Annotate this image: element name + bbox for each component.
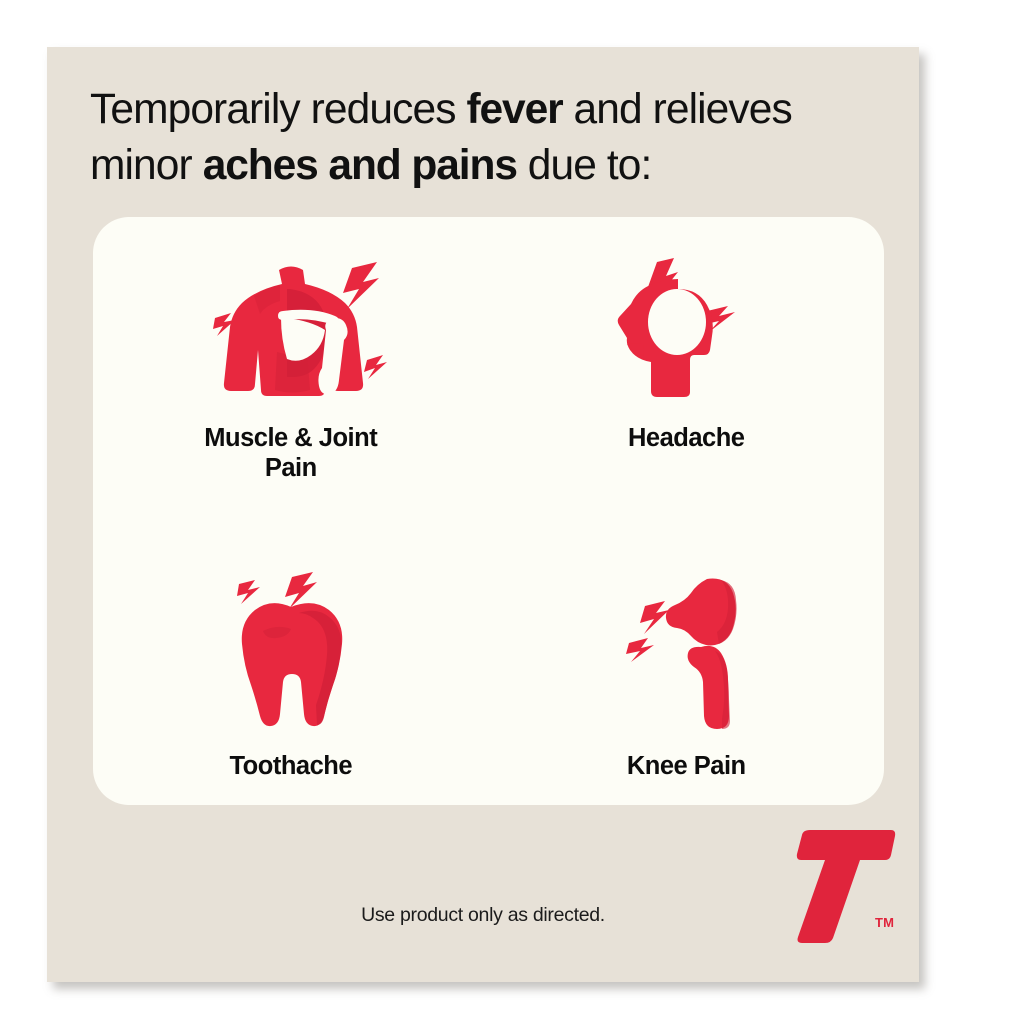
symptom-label: Knee Pain — [627, 751, 746, 781]
headline-text: minor — [90, 142, 203, 189]
symptom-label: Toothache — [229, 751, 352, 781]
knee-pain-icon — [609, 569, 764, 731]
headline-line-1: Temporarily reduces fever and relieves — [90, 86, 792, 133]
symptom-item-muscle-joint-pain: Muscle & JointPain — [93, 217, 489, 511]
muscle-joint-pain-icon — [191, 255, 391, 407]
symptom-grid: Muscle & JointPain — [93, 217, 884, 805]
symptom-item-toothache: Toothache — [93, 511, 489, 805]
symptom-label: Muscle & JointPain — [204, 423, 377, 483]
headline-line-2: minor aches and pains due to: — [90, 142, 651, 189]
headache-icon — [604, 255, 769, 407]
symptom-label: Headache — [628, 423, 744, 453]
beige-panel: Temporarily reduces fever and relieves m… — [47, 47, 919, 982]
headline-text: and relieves — [563, 86, 792, 133]
headline-emphasis-aches: aches and pains — [203, 142, 517, 189]
headline-text: Temporarily reduces — [90, 86, 466, 133]
symptom-item-knee-pain: Knee Pain — [489, 511, 885, 805]
headline-text: due to: — [517, 142, 652, 189]
symptom-item-headache: Headache — [489, 217, 885, 511]
symptom-card: Muscle & JointPain — [93, 217, 884, 805]
footer-disclaimer: Use product only as directed. — [47, 904, 919, 927]
product-graphic: Temporarily reduces fever and relieves m… — [0, 0, 1024, 1024]
page-title: Temporarily reduces fever and relieves m… — [90, 82, 890, 193]
toothache-icon — [216, 569, 366, 731]
trademark-symbol: TM — [875, 915, 894, 930]
headline-emphasis-fever: fever — [466, 86, 562, 133]
